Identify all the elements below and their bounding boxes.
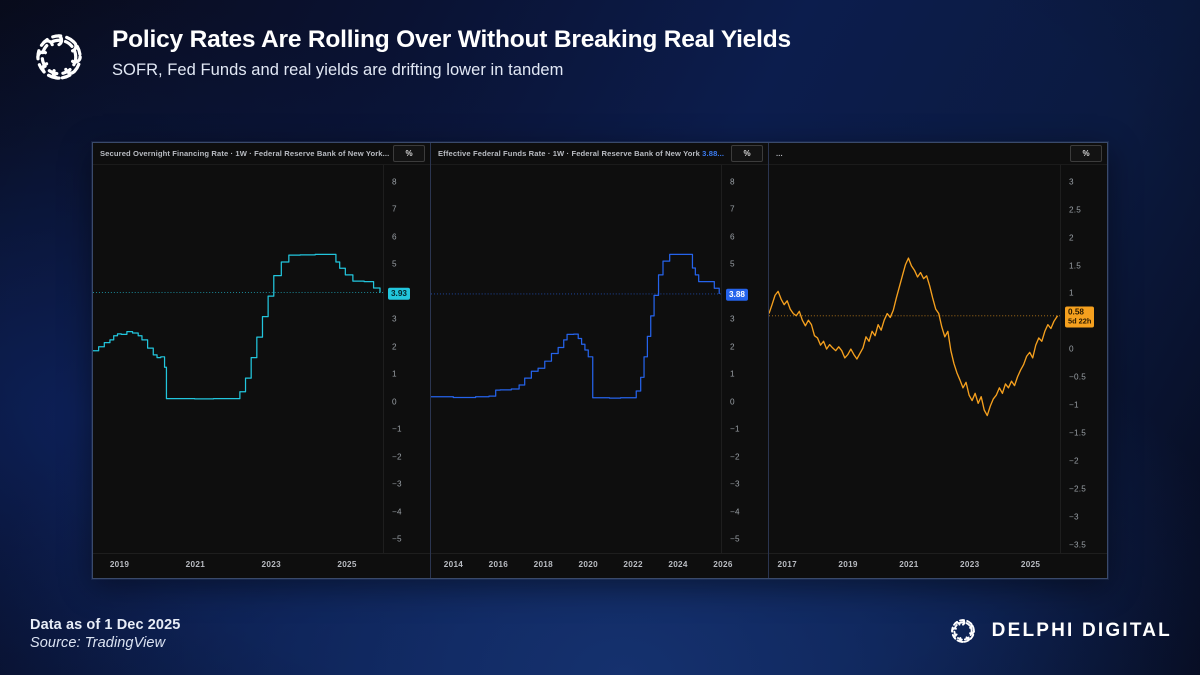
header: Policy Rates Are Rolling Over Without Br… bbox=[28, 24, 791, 88]
y-axis-tick: −1 bbox=[1069, 401, 1079, 410]
y-axis-tick: −3 bbox=[1069, 512, 1079, 521]
legend-real-yields: ... bbox=[776, 149, 783, 158]
panel-body-real-yields: 32.521.510−0.5−1−1.5−2−2.5−3−3.50.585d 2… bbox=[769, 165, 1107, 553]
y-axis-tick: −1 bbox=[392, 425, 402, 434]
y-axis-tick: 1 bbox=[1069, 289, 1074, 298]
y-axis-tick: −3 bbox=[392, 480, 402, 489]
x-axis-tick: 2026 bbox=[713, 560, 732, 569]
x-axis-real-yields[interactable]: 20172019202120232025 bbox=[769, 553, 1107, 578]
data-as-of-label: Data as of 1 Dec 2025 bbox=[30, 617, 180, 633]
x-axis-tick: 2019 bbox=[838, 560, 857, 569]
y-axis-tick: 8 bbox=[730, 177, 735, 186]
unit-badge-effr[interactable]: % bbox=[731, 145, 763, 162]
y-axis-sofr[interactable]: 87653210−1−2−3−4−53.93 bbox=[383, 165, 430, 553]
x-axis-tick: 2023 bbox=[960, 560, 979, 569]
footer: Data as of 1 Dec 2025 Source: TradingVie… bbox=[30, 617, 180, 651]
y-axis-tick: −3 bbox=[730, 480, 740, 489]
series-line bbox=[431, 254, 719, 398]
panel-header-effr: Effective Federal Funds Rate · 1W · Fede… bbox=[431, 143, 768, 165]
legend-text: Effective Federal Funds Rate · 1W · Fede… bbox=[438, 149, 700, 158]
y-axis-tick: 6 bbox=[392, 232, 397, 241]
page-title: Policy Rates Are Rolling Over Without Br… bbox=[112, 27, 791, 54]
charts-board: Secured Overnight Financing Rate · 1W · … bbox=[92, 142, 1108, 579]
last-price-badge[interactable]: 0.585d 22h bbox=[1065, 306, 1094, 327]
y-axis-tick: 2.5 bbox=[1069, 205, 1081, 214]
x-axis-effr[interactable]: 2014201620182020202220242026 bbox=[431, 553, 768, 578]
source-label: Source: TradingView bbox=[30, 635, 180, 651]
y-axis-tick: −0.5 bbox=[1069, 373, 1086, 382]
y-axis-tick: 3 bbox=[730, 315, 735, 324]
chart-panel-sofr[interactable]: Secured Overnight Financing Rate · 1W · … bbox=[93, 143, 431, 578]
y-axis-tick: 2 bbox=[730, 342, 735, 351]
series-line bbox=[93, 254, 380, 399]
x-axis-tick: 2021 bbox=[899, 560, 918, 569]
brand-lockup: DELPHI DIGITAL bbox=[947, 615, 1172, 647]
x-axis-tick: 2021 bbox=[186, 560, 205, 569]
chart-panel-real-yields[interactable]: ... % 32.521.510−0.5−1−1.5−2−2.5−3−3.50.… bbox=[769, 143, 1107, 578]
panel-header-sofr: Secured Overnight Financing Rate · 1W · … bbox=[93, 143, 430, 165]
last-price-badge[interactable]: 3.93 bbox=[388, 287, 410, 299]
y-axis-tick: 7 bbox=[730, 205, 735, 214]
y-axis-tick: −4 bbox=[392, 507, 402, 516]
x-axis-sofr[interactable]: 2019202120232025 bbox=[93, 553, 430, 578]
y-axis-tick: 1 bbox=[730, 370, 735, 379]
y-axis-tick: −2.5 bbox=[1069, 484, 1086, 493]
unit-badge-real-yields[interactable]: % bbox=[1070, 145, 1102, 162]
y-axis-tick: 0 bbox=[392, 397, 397, 406]
panel-body-sofr: 87653210−1−2−3−4−53.93 bbox=[93, 165, 430, 553]
plot-area-real-yields[interactable] bbox=[769, 165, 1060, 553]
panel-header-real-yields: ... % bbox=[769, 143, 1107, 165]
x-axis-tick: 2019 bbox=[110, 560, 129, 569]
legend-text: Secured Overnight Financing Rate · 1W · … bbox=[100, 149, 389, 158]
y-axis-real-yields[interactable]: 32.521.510−0.5−1−1.5−2−2.5−3−3.50.585d 2… bbox=[1060, 165, 1107, 553]
countdown-label: 5d 22h bbox=[1068, 317, 1091, 326]
y-axis-tick: 0 bbox=[1069, 345, 1074, 354]
panel-body-effr: 87653210−1−2−3−4−53.88 bbox=[431, 165, 768, 553]
legend-value: 3.88... bbox=[702, 149, 724, 158]
y-axis-tick: 3 bbox=[1069, 177, 1074, 186]
plot-area-effr[interactable] bbox=[431, 165, 721, 553]
y-axis-tick: −3.5 bbox=[1069, 540, 1086, 549]
y-axis-tick: −1 bbox=[730, 425, 740, 434]
delphi-ring-icon bbox=[947, 615, 979, 647]
x-axis-tick: 2025 bbox=[337, 560, 356, 569]
y-axis-tick: 7 bbox=[392, 205, 397, 214]
y-axis-tick: 5 bbox=[392, 260, 397, 269]
x-axis-tick: 2023 bbox=[262, 560, 281, 569]
y-axis-tick: 8 bbox=[392, 177, 397, 186]
delphi-ring-icon bbox=[28, 26, 90, 88]
x-axis-tick: 2014 bbox=[444, 560, 463, 569]
legend-effr: Effective Federal Funds Rate · 1W · Fede… bbox=[438, 149, 724, 158]
y-axis-effr[interactable]: 87653210−1−2−3−4−53.88 bbox=[721, 165, 768, 553]
y-axis-tick: −2 bbox=[392, 452, 402, 461]
x-axis-tick: 2018 bbox=[534, 560, 553, 569]
y-axis-tick: 1 bbox=[392, 370, 397, 379]
y-axis-tick: 2 bbox=[392, 342, 397, 351]
last-price-badge[interactable]: 3.88 bbox=[726, 289, 748, 301]
y-axis-tick: −2 bbox=[1069, 457, 1079, 466]
y-axis-tick: −1.5 bbox=[1069, 429, 1086, 438]
y-axis-tick: 2 bbox=[1069, 233, 1074, 242]
x-axis-tick: 2025 bbox=[1021, 560, 1040, 569]
y-axis-tick: −4 bbox=[730, 507, 740, 516]
y-axis-tick: −5 bbox=[392, 535, 402, 544]
y-axis-tick: 1.5 bbox=[1069, 261, 1081, 270]
y-axis-tick: 3 bbox=[392, 315, 397, 324]
legend-sofr: Secured Overnight Financing Rate · 1W · … bbox=[100, 149, 389, 158]
x-axis-tick: 2017 bbox=[778, 560, 797, 569]
x-axis-tick: 2016 bbox=[489, 560, 508, 569]
plot-area-sofr[interactable] bbox=[93, 165, 383, 553]
y-axis-tick: −5 bbox=[730, 535, 740, 544]
x-axis-tick: 2020 bbox=[579, 560, 598, 569]
y-axis-tick: 0 bbox=[730, 397, 735, 406]
x-axis-tick: 2024 bbox=[668, 560, 687, 569]
y-axis-tick: 5 bbox=[730, 260, 735, 269]
unit-badge-sofr[interactable]: % bbox=[393, 145, 425, 162]
chart-panel-effr[interactable]: Effective Federal Funds Rate · 1W · Fede… bbox=[431, 143, 769, 578]
x-axis-tick: 2022 bbox=[623, 560, 642, 569]
y-axis-tick: 6 bbox=[730, 232, 735, 241]
brand-name: DELPHI DIGITAL bbox=[992, 620, 1172, 642]
y-axis-tick: −2 bbox=[730, 452, 740, 461]
series-line bbox=[769, 258, 1058, 415]
page-subtitle: SOFR, Fed Funds and real yields are drif… bbox=[112, 61, 791, 81]
